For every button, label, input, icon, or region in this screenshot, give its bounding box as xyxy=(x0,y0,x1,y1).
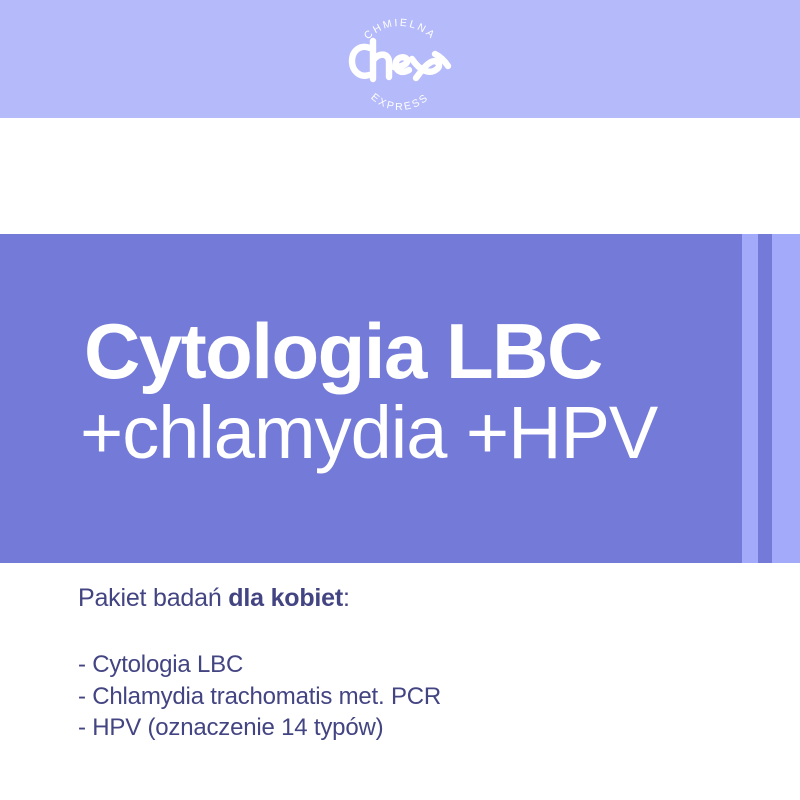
details-heading: Pakiet badań dla kobiet: xyxy=(78,584,778,613)
chex-logo[interactable]: CHMIELNA EXPRESS xyxy=(340,8,460,118)
hero-title-line-1: Cytologia LBC xyxy=(84,312,744,390)
hero-title-block: Cytologia LBC +chlamydia +HPV xyxy=(84,312,744,472)
logo-wordmark-chex xyxy=(340,35,460,91)
header-band: CHMIELNA EXPRESS xyxy=(0,0,800,118)
details-section: Pakiet badań dla kobiet: - Cytologia LBC… xyxy=(78,584,778,744)
accent-stripe-light-1 xyxy=(742,234,758,563)
tests-list: - Cytologia LBC - Chlamydia trachomatis … xyxy=(78,649,778,744)
list-item: - Chlamydia trachomatis met. PCR xyxy=(78,681,778,713)
details-heading-emphasis: dla kobiet xyxy=(228,584,343,612)
details-heading-suffix: : xyxy=(343,584,350,612)
list-item: - HPV (oznaczenie 14 typów) xyxy=(78,712,778,744)
hero-title-line-2: +chlamydia +HPV xyxy=(80,394,744,472)
logo-bottom-arc-label: EXPRESS xyxy=(369,91,432,113)
accent-stripe-dark xyxy=(758,234,772,563)
accent-stripe-light-2 xyxy=(772,234,800,563)
list-item: - Cytologia LBC xyxy=(78,649,778,681)
details-heading-prefix: Pakiet badań xyxy=(78,584,228,612)
